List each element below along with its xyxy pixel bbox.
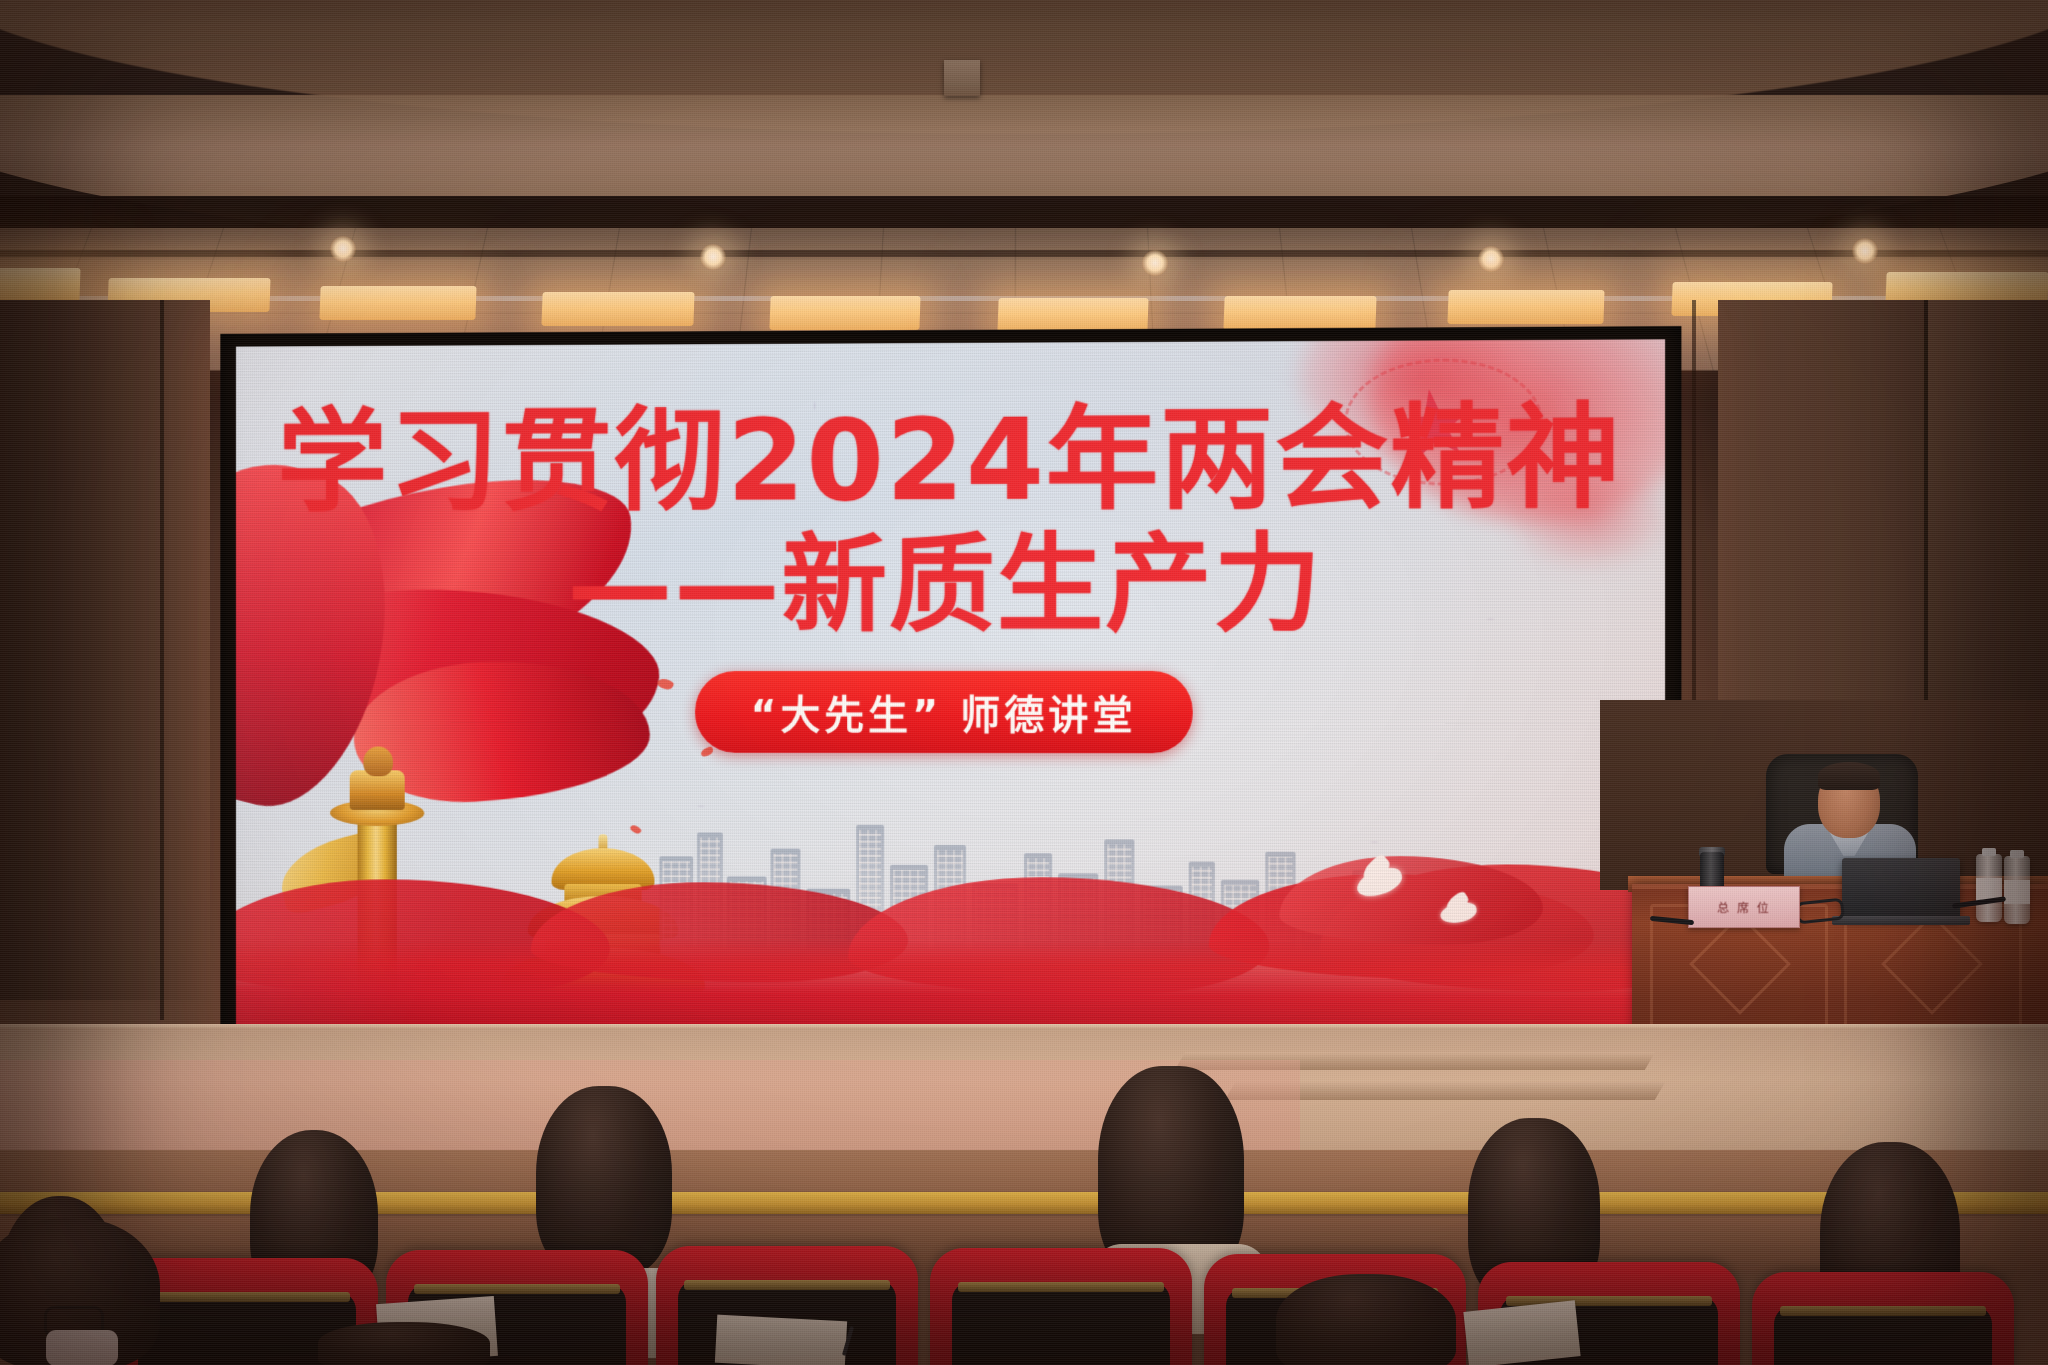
ceiling-vent-icon [944, 60, 980, 96]
ceiling-panel-light [1447, 290, 1604, 324]
led-screen-frame: 学习贯彻2024年两会精神 ——新质生产力 “大先生” 师德讲堂 [220, 326, 1681, 1052]
ceiling-panel-light [541, 292, 694, 326]
auditorium-seat[interactable] [930, 1248, 1192, 1365]
spot-light-icon [1478, 246, 1504, 272]
slide-title-line1: 学习贯彻2024年两会精神 [236, 396, 1665, 526]
slide-badge: “大先生” 师德讲堂 [695, 671, 1193, 753]
auditorium-seat[interactable] [1752, 1272, 2014, 1365]
ceiling-panel-light [0, 268, 81, 302]
spot-light-icon [1852, 238, 1878, 264]
ink-wash-landscape [236, 848, 1665, 1038]
lecture-hall-photo: 学习贯彻2024年两会精神 ——新质生产力 “大先生” 师德讲堂 总 席 [0, 0, 2048, 1365]
left-wall [0, 300, 210, 1000]
ceiling-panel-light [997, 298, 1148, 332]
slide-text-block: 学习贯彻2024年两会精神 ——新质生产力 “大先生” 师德讲堂 [236, 396, 1665, 754]
laptop-base [1832, 916, 1970, 925]
nameplate: 总 席 位 [1688, 886, 1800, 928]
attendee-head [318, 1322, 490, 1365]
handout-paper [1463, 1300, 1580, 1365]
seat-bar [958, 1282, 1164, 1292]
nameplate-text: 总 席 位 [1717, 899, 1771, 916]
ceiling-panel-light [1223, 296, 1376, 330]
ceiling-panel-light [769, 296, 920, 330]
spot-light-icon [330, 236, 356, 262]
seat-bar [684, 1280, 890, 1290]
seat-bar [1780, 1306, 1986, 1316]
seat-bar [144, 1292, 350, 1302]
handout-paper [715, 1315, 847, 1365]
face-mask-icon [46, 1330, 118, 1365]
attendee-head [536, 1086, 672, 1276]
seat-bar [414, 1284, 620, 1294]
ceiling-panel-light [319, 286, 476, 320]
attendee-head [1276, 1274, 1456, 1365]
spot-light-icon [700, 244, 726, 270]
laptop-icon [1842, 858, 1960, 920]
led-screen-display: 学习贯彻2024年两会精神 ——新质生产力 “大先生” 师德讲堂 [236, 339, 1665, 1038]
slide-title-line2: ——新质生产力 [236, 525, 1665, 646]
slide-badge-wrap: “大先生” 师德讲堂 [236, 671, 1665, 754]
spot-light-icon [1142, 250, 1168, 276]
bottle-cap [1982, 848, 1996, 856]
seat-cushion [952, 1282, 1170, 1365]
wall-seam [160, 300, 164, 1020]
bottle-cap [2010, 850, 2024, 858]
speaker-hair [1818, 762, 1880, 790]
bottle-label [2004, 880, 2030, 904]
ceiling-beam [0, 250, 2048, 257]
